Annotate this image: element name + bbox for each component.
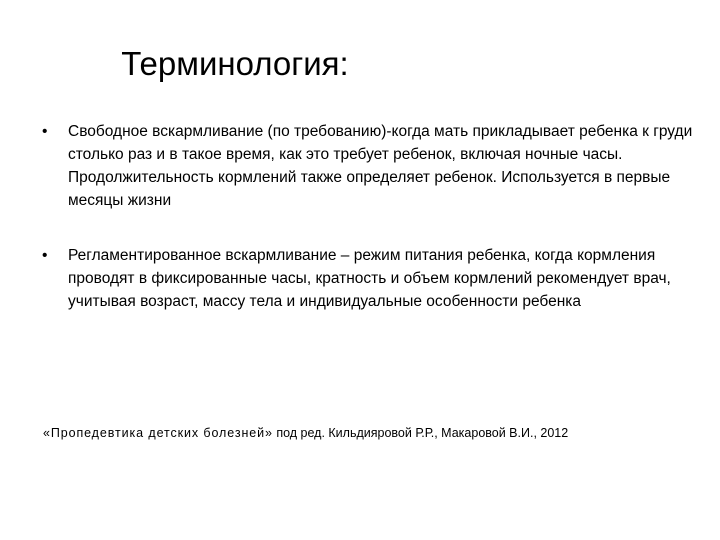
bullet-marker-icon: •	[42, 244, 56, 267]
bullet-list: • Свободное вскармливание (по требованию…	[36, 120, 696, 313]
list-item-text: Регламентированное вскармливание – режим…	[68, 244, 696, 313]
page-title: Терминология:	[0, 44, 720, 84]
citation-editors: под ред. Кильдияровой Р.Р., Макаровой В.…	[273, 426, 568, 440]
slide-canvas: Терминология: • Свободное вскармливание …	[0, 0, 720, 540]
list-item: • Свободное вскармливание (по требованию…	[36, 120, 696, 212]
list-item-text: Свободное вскармливание (по требованию)-…	[68, 120, 696, 212]
source-citation: «Пропедевтика детских болезней» под ред.…	[43, 425, 683, 442]
citation-book-title: «Пропедевтика детских болезней»	[43, 426, 273, 440]
bullet-marker-icon: •	[42, 120, 56, 143]
list-item: • Регламентированное вскармливание – реж…	[36, 244, 696, 313]
